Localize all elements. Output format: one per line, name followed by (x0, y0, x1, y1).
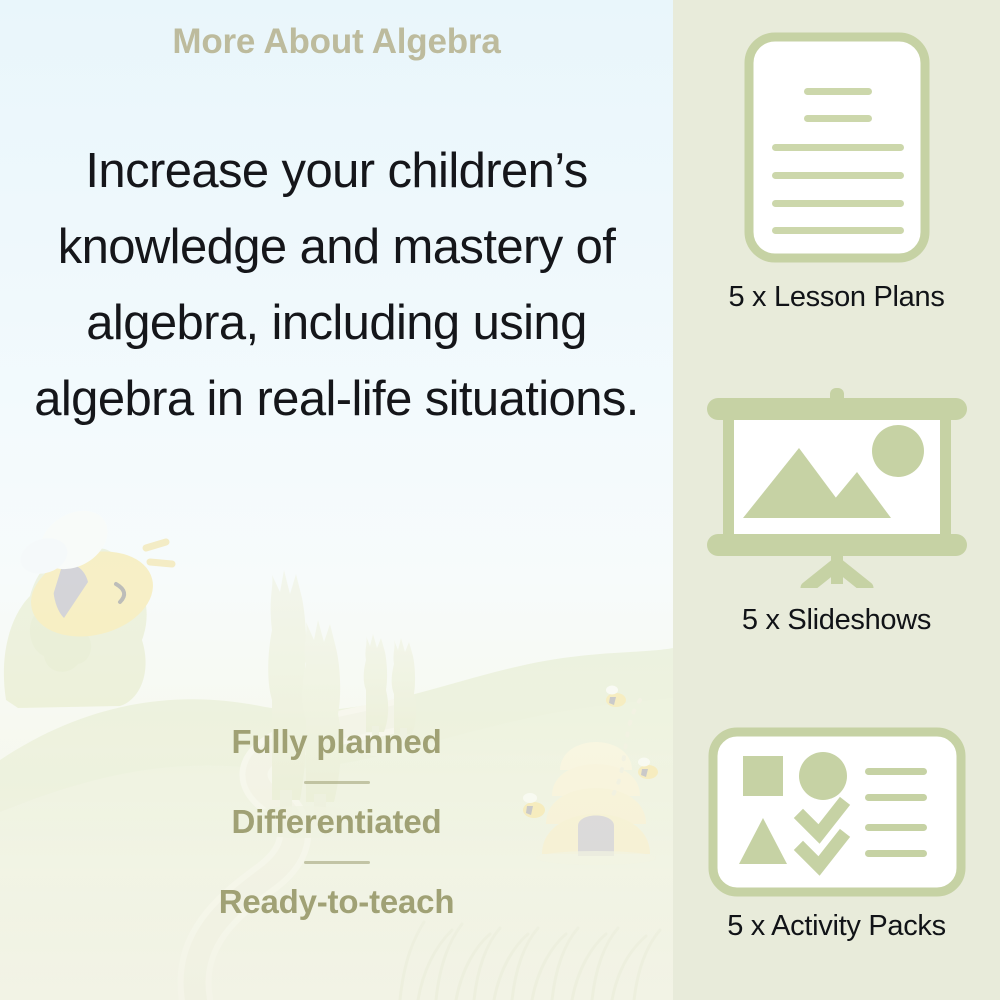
feature-item-0: Fully planned (0, 722, 673, 762)
product-item-slideshows: 5 x Slideshows (673, 388, 1000, 637)
page-title: More About Algebra (0, 22, 673, 62)
feature-separator-0 (304, 781, 370, 784)
product-label-lesson-plans: 5 x Lesson Plans (673, 281, 1000, 314)
left-panel: More About Algebra Increase your childre… (0, 0, 673, 1000)
product-item-lesson-plans: 5 x Lesson Plans (673, 30, 1000, 314)
right-panel: 5 x Lesson Plans (673, 0, 1000, 1000)
promo-graphic: More About Algebra Increase your childre… (0, 0, 1000, 1000)
product-label-activity-packs: 5 x Activity Packs (673, 910, 1000, 943)
document-icon (742, 30, 932, 265)
feature-item-2: Ready-to-teach (0, 882, 673, 922)
projector-screen-icon (701, 388, 973, 588)
feature-separator-1 (304, 861, 370, 864)
headline-text: Increase your children’s knowledge and m… (24, 133, 649, 437)
product-label-slideshows: 5 x Slideshows (673, 604, 1000, 637)
activity-card-icon (707, 726, 967, 898)
feature-item-1: Differentiated (0, 802, 673, 842)
left-content: More About Algebra Increase your childre… (0, 0, 673, 1000)
feature-list: Fully planned Differentiated Ready-to-te… (0, 722, 673, 922)
product-item-activity-packs: 5 x Activity Packs (673, 726, 1000, 943)
